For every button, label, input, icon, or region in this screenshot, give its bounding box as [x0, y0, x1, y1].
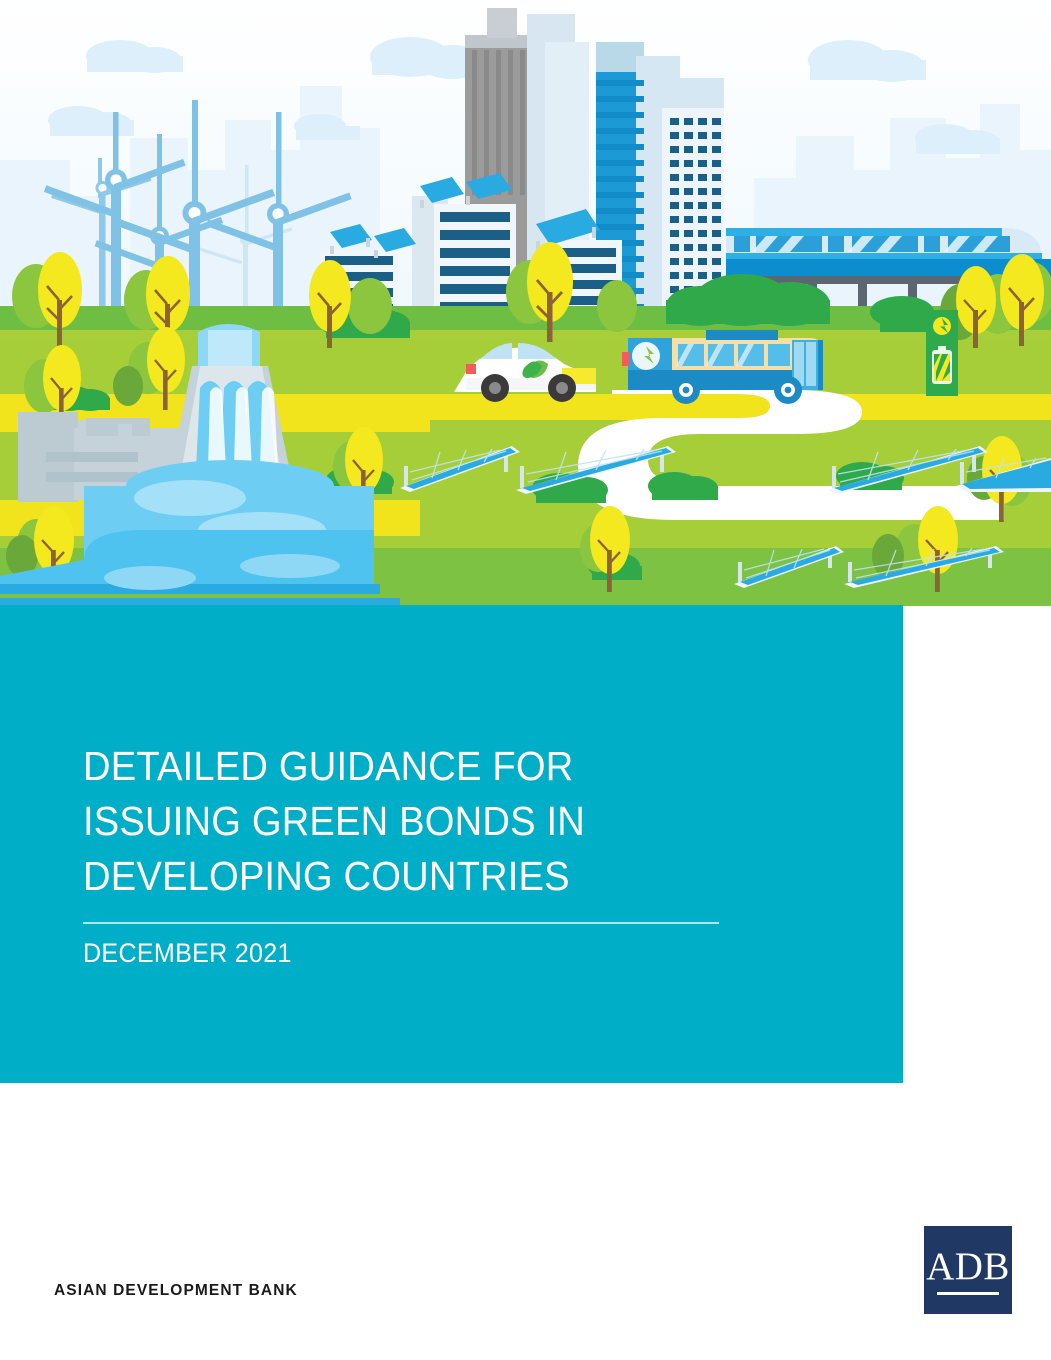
ev-charging-station [926, 310, 958, 396]
page-title: DETAILED GUIDANCE FOR ISSUING GREEN BOND… [83, 739, 734, 904]
cover-page: DETAILED GUIDANCE FOR ISSUING GREEN BOND… [0, 0, 1051, 1360]
publication-date: DECEMBER 2021 [83, 936, 292, 970]
adb-logo: ADB [924, 1226, 1012, 1314]
green-city-illustration [0, 0, 1051, 606]
adb-logo-text: ADB [924, 1246, 1012, 1288]
title-divider [83, 922, 719, 924]
adb-logo-underline [937, 1292, 999, 1295]
publisher-name: ASIAN DEVELOPMENT BANK [54, 1282, 298, 1300]
